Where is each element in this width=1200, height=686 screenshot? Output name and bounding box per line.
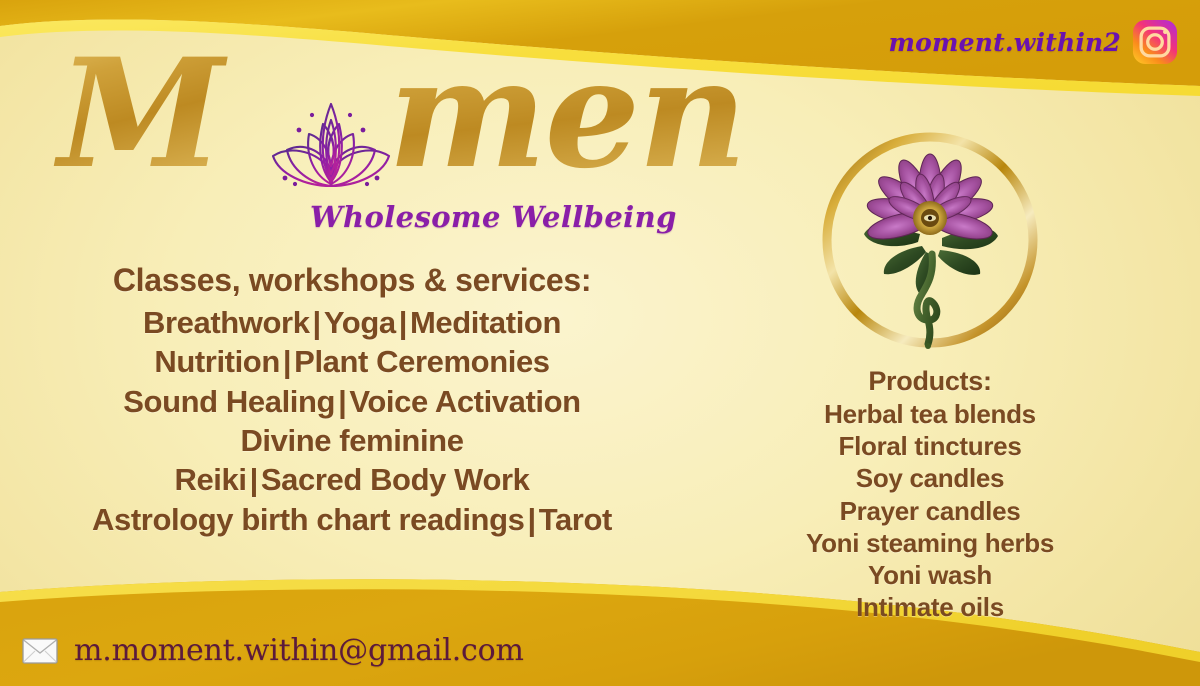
product-item: Floral tinctures xyxy=(762,430,1098,462)
product-item: Prayer candles xyxy=(762,495,1098,527)
flyer-card: moment.within2 xyxy=(0,0,1200,686)
contact-email[interactable]: m.moment.within@gmail.com xyxy=(74,633,524,668)
service-separator: | xyxy=(247,462,261,497)
service-line: Nutrition|Plant Ceremonies xyxy=(22,342,682,381)
product-item: Herbal tea blends xyxy=(762,398,1098,430)
service-line: Breathwork|Yoga|Meditation xyxy=(22,303,682,342)
logo-letter-m: M xyxy=(53,34,228,202)
service-item: Sound Healing xyxy=(123,384,335,419)
logo-letters-ment: ment xyxy=(388,34,748,202)
product-item: Yoni steaming herbs xyxy=(762,527,1098,559)
instagram-icon[interactable] xyxy=(1132,19,1178,65)
service-item: Reiki xyxy=(174,462,246,497)
service-item: Tarot xyxy=(539,502,612,537)
lotus-icon xyxy=(265,90,397,198)
contact-footer[interactable]: m.moment.within@gmail.com xyxy=(22,633,524,668)
service-item: Nutrition xyxy=(154,344,280,379)
service-line: Astrology birth chart readings|Tarot xyxy=(22,500,682,539)
service-item: Astrology birth chart readings xyxy=(92,502,524,537)
service-line: Reiki|Sacred Body Work xyxy=(22,460,682,499)
service-item: Divine feminine xyxy=(240,423,463,458)
product-item: Intimate oils xyxy=(762,591,1098,623)
service-line: Sound Healing|Voice Activation xyxy=(22,382,682,421)
brand-wordmark: M ment xyxy=(48,34,748,209)
service-item: Sacred Body Work xyxy=(261,462,530,497)
product-item: Yoni wash xyxy=(762,559,1098,591)
product-item: Soy candles xyxy=(762,462,1098,494)
brand-tagline: Wholesome Wellbeing xyxy=(310,200,677,234)
instagram-handle[interactable]: moment.within2 xyxy=(888,19,1178,65)
service-line: Divine feminine xyxy=(22,421,682,460)
products-heading: Products: xyxy=(762,366,1098,397)
services-section: Classes, workshops & services: Breathwor… xyxy=(22,262,682,539)
service-separator: | xyxy=(524,502,538,537)
service-item: Yoga xyxy=(324,305,396,340)
instagram-handle-text: moment.within2 xyxy=(888,28,1121,57)
service-separator: | xyxy=(396,305,410,340)
service-separator: | xyxy=(310,305,324,340)
flower-serpent-emblem-icon xyxy=(812,122,1048,358)
products-section: Products: Herbal tea blendsFloral tinctu… xyxy=(762,366,1098,624)
services-heading: Classes, workshops & services: xyxy=(22,262,682,299)
products-list: Herbal tea blendsFloral tincturesSoy can… xyxy=(762,398,1098,624)
service-separator: | xyxy=(280,344,294,379)
service-item: Plant Ceremonies xyxy=(294,344,549,379)
service-item: Voice Activation xyxy=(349,384,580,419)
service-item: Breathwork xyxy=(143,305,310,340)
service-separator: | xyxy=(335,384,349,419)
services-list: Breathwork|Yoga|MeditationNutrition|Plan… xyxy=(22,303,682,539)
service-item: Meditation xyxy=(410,305,561,340)
brand-logo: M ment xyxy=(48,34,748,224)
envelope-icon xyxy=(22,638,58,664)
